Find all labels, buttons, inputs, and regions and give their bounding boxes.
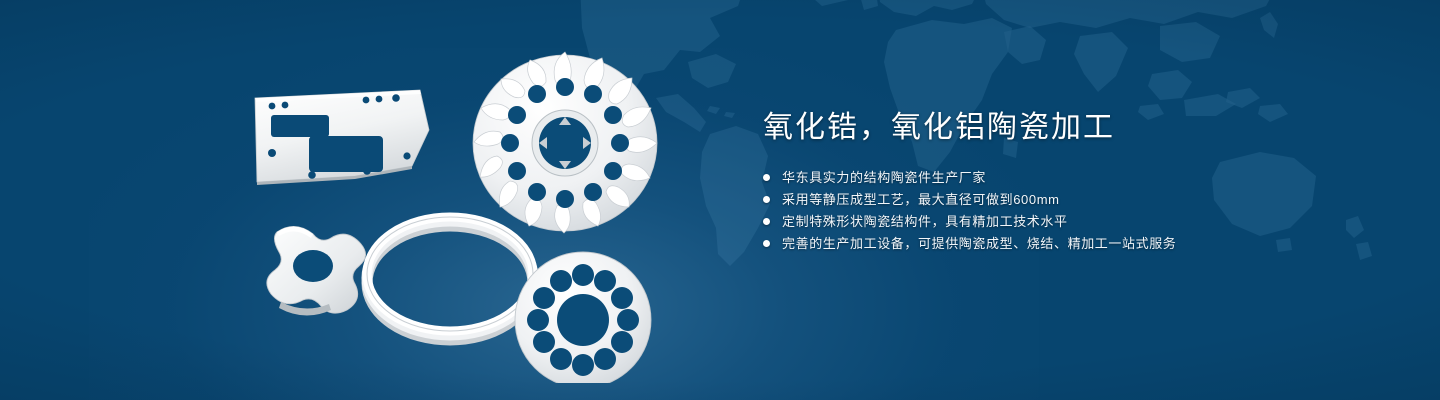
list-item: 完善的生产加工设备，可提供陶瓷成型、烧结、精加工一站式服务 xyxy=(763,236,1343,251)
banner-copy: 氧化锆，氧化铝陶瓷加工 华东具实力的结构陶瓷件生产厂家 采用等静压成型工艺，最大… xyxy=(763,108,1343,258)
feature-text: 华东具实力的结构陶瓷件生产厂家 xyxy=(782,170,986,185)
ceramic-impeller-disc xyxy=(473,52,657,233)
banner-headline: 氧化锆，氧化铝陶瓷加工 xyxy=(763,108,1343,148)
bullet-dot-icon xyxy=(763,196,770,203)
list-item: 华东具实力的结构陶瓷件生产厂家 xyxy=(763,170,1343,185)
product-showcase xyxy=(215,38,715,383)
bullet-dot-icon xyxy=(763,240,770,247)
list-item: 采用等静压成型工艺，最大直径可做到600mm xyxy=(763,192,1343,207)
list-item: 定制特殊形状陶瓷结构件，具有精加工技术水平 xyxy=(763,214,1343,229)
feature-list: 华东具实力的结构陶瓷件生产厂家 采用等静压成型工艺，最大直径可做到600mm 定… xyxy=(763,170,1343,251)
ceramic-flat-plate xyxy=(255,90,429,185)
ceramic-cross-plate xyxy=(267,226,366,315)
feature-text: 采用等静压成型工艺，最大直径可做到600mm xyxy=(782,192,1060,207)
feature-text: 完善的生产加工设备，可提供陶瓷成型、烧结、精加工一站式服务 xyxy=(782,236,1176,251)
bullet-dot-icon xyxy=(763,218,770,225)
bullet-dot-icon xyxy=(763,174,770,181)
hero-banner: 氧化锆，氧化铝陶瓷加工 华东具实力的结构陶瓷件生产厂家 采用等静压成型工艺，最大… xyxy=(0,0,1440,400)
ceramic-rings xyxy=(367,217,533,340)
ceramic-holed-ring-disc xyxy=(515,252,651,383)
feature-text: 定制特殊形状陶瓷结构件，具有精加工技术水平 xyxy=(782,214,1068,229)
